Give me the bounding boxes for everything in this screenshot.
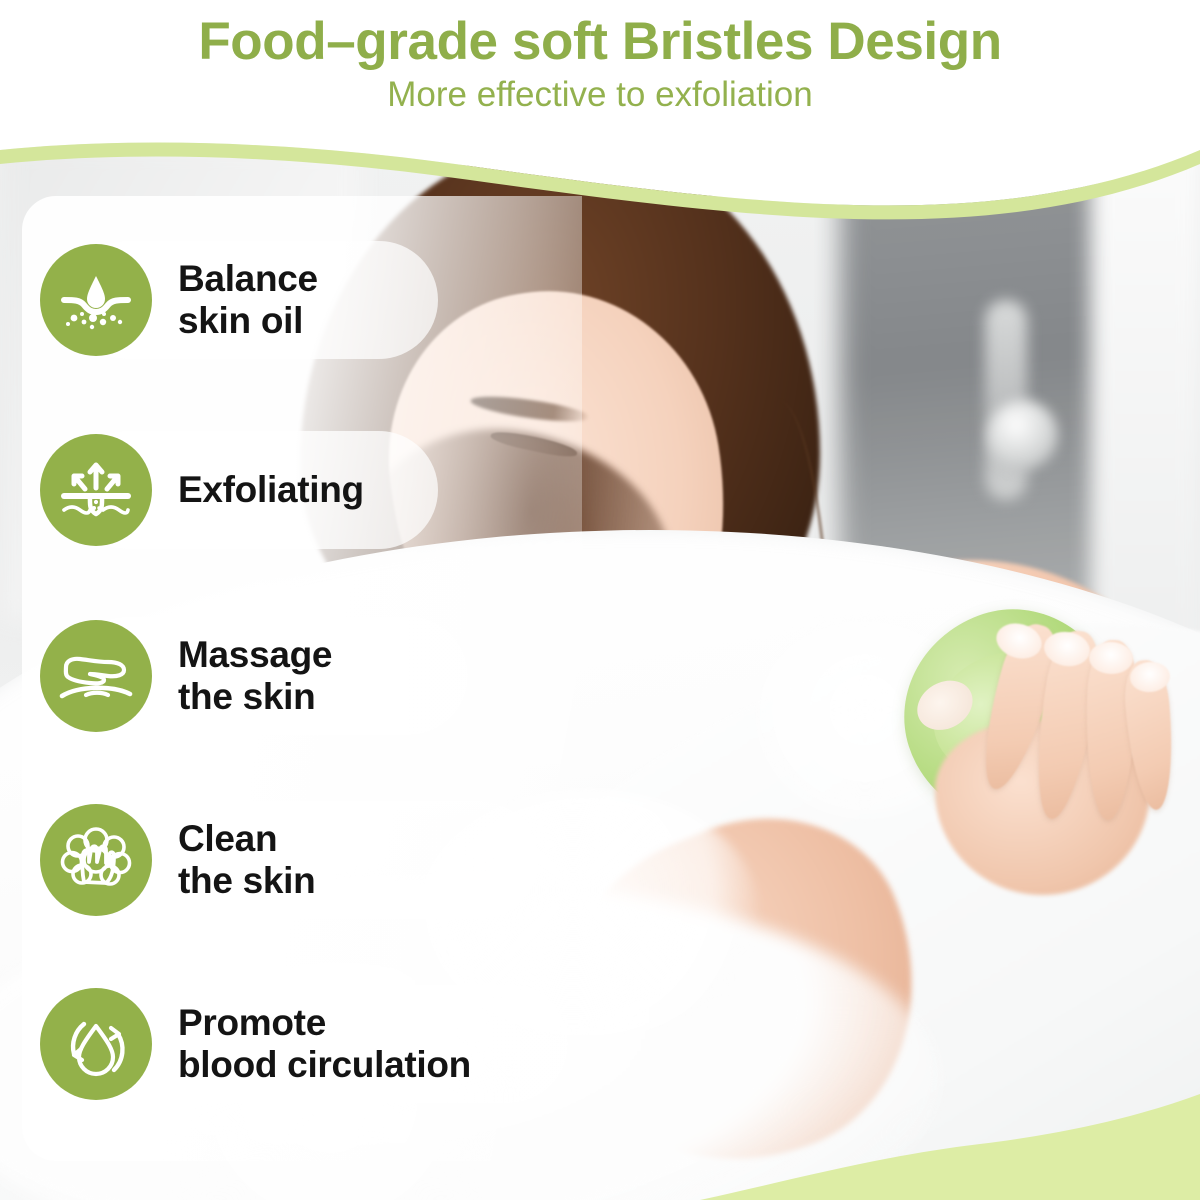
feature-item-promote-blood-circulation[interactable]: Promote blood circulation — [40, 976, 471, 1112]
feature-item-clean-the-skin[interactable]: Clean the skin — [40, 792, 315, 928]
hand-massage-icon — [40, 620, 152, 732]
feature-item-exfoliating[interactable]: Exfoliating — [40, 422, 364, 558]
skin-pore-droplet-icon — [40, 244, 152, 356]
header: Food–grade soft Bristles Design More eff… — [0, 0, 1200, 150]
feature-label: Exfoliating — [178, 469, 364, 511]
hand-foam-clean-icon — [40, 804, 152, 916]
feature-label: Balance skin oil — [178, 258, 318, 342]
shower-knob — [988, 400, 1058, 470]
feature-label: Promote blood circulation — [178, 1002, 471, 1086]
feature-item-balance-skin-oil[interactable]: Balance skin oil — [40, 232, 318, 368]
skin-exfoliating-arrows-icon — [40, 434, 152, 546]
feature-item-massage-the-skin[interactable]: Massage the skin — [40, 608, 332, 744]
product-infographic-canvas: Food–grade soft Bristles Design More eff… — [0, 0, 1200, 1200]
wall-right — [1090, 140, 1200, 660]
feature-label: Massage the skin — [178, 634, 332, 718]
feature-label: Clean the skin — [178, 818, 315, 902]
droplet-circulation-icon — [40, 988, 152, 1100]
page-title: Food–grade soft Bristles Design — [0, 0, 1200, 70]
page-subtitle: More effective to exfoliation — [0, 70, 1200, 115]
